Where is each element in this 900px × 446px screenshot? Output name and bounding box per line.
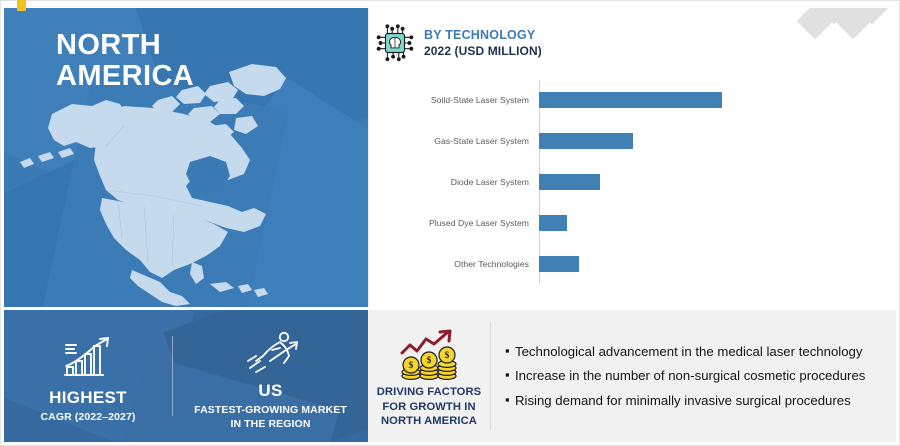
svg-text:$: $ (409, 360, 414, 370)
stats-row: HIGHEST CAGR (2022–2027) (4, 310, 368, 442)
stat-highest-cagr-sub: CAGR (2022–2027) (41, 411, 136, 425)
bar-category-label: Diode Laser System (391, 177, 535, 187)
list-item: ▪ Technological advancement in the medic… (505, 343, 886, 360)
bullet-icon: ▪ (505, 367, 514, 383)
north-america-map-icon (14, 56, 358, 306)
list-item: ▪ Rising demand for minimally invasive s… (505, 392, 886, 409)
bar-row: Diode Laser System (391, 162, 877, 202)
stat-fastest-growing-market-headline: US (258, 381, 282, 401)
list-item: ▪ Increase in the number of non-surgical… (505, 367, 886, 384)
svg-text:$: $ (427, 355, 432, 365)
bar-category-label: Gas-State Laser System (391, 136, 535, 146)
infographic-root: NORTH AMERICA (0, 0, 900, 446)
bar-value (539, 92, 722, 108)
driving-factors-list: ▪ Technological advancement in the medic… (491, 337, 896, 414)
list-item-text: Technological advancement in the medical… (515, 343, 886, 360)
bar-track (535, 162, 877, 202)
rocket-person-icon (240, 326, 302, 374)
bar-row: Gas-State Laser System (391, 121, 877, 161)
bullet-icon: ▪ (505, 392, 514, 408)
list-item-text: Rising demand for minimally invasive sur… (515, 392, 886, 409)
bar-category-label: Other Technologies (391, 259, 535, 269)
bar-value (539, 133, 633, 149)
bar-row: Soild-State Laser System (391, 80, 877, 120)
list-item-text: Increase in the number of non-surgical c… (515, 367, 886, 384)
stat-highest-cagr: HIGHEST CAGR (2022–2027) (4, 327, 172, 425)
bar-track (535, 203, 877, 243)
bar-row: Plused Dye Laser System (391, 203, 877, 243)
coins-growth-arrow-icon: $ $ $ (398, 327, 460, 381)
caption-line2: FOR GROWTH IN (377, 400, 481, 415)
region-title-line2: AMERICA (56, 61, 194, 92)
bar-category-label: Soild-State Laser System (391, 95, 535, 105)
bar-chart: Soild-State Laser System Gas-State Laser… (391, 80, 877, 292)
driving-factors-panel: $ $ $ DRIVING FACTORS FOR GROWTH IN NORT… (368, 310, 896, 442)
bar-category-label: Plused Dye Laser System (391, 218, 535, 228)
region-title-line1: NORTH (56, 30, 194, 61)
chart-title: BY TECHNOLOGY (424, 28, 542, 43)
stat-fastest-growing-market: US FASTEST-GROWING MARKET IN THE REGION (173, 320, 368, 432)
region-map-panel: NORTH AMERICA (4, 8, 368, 307)
yellow-accent-tab (17, 0, 26, 11)
svg-text:$: $ (445, 350, 450, 360)
bar-value (539, 215, 567, 231)
region-title: NORTH AMERICA (56, 30, 194, 93)
bar-row: Other Technologies (391, 244, 877, 284)
stat-sub-line1: FASTEST-GROWING MARKET (194, 404, 347, 418)
bar-track (535, 121, 877, 161)
caption-line1: DRIVING FACTORS (377, 385, 481, 400)
bullet-icon: ▪ (505, 343, 514, 359)
stat-sub-line2: IN THE REGION (194, 418, 347, 432)
region-stats-panel: HIGHEST CAGR (2022–2027) (4, 310, 368, 442)
diamond-decoration (802, 8, 890, 48)
microchip-brain-icon (376, 24, 414, 62)
bar-value (539, 174, 600, 190)
bar-track (535, 244, 877, 284)
technology-chart-panel: BY TECHNOLOGY 2022 (USD MILLION) Soild-S… (368, 8, 896, 307)
caption-line3: NORTH AMERICA (377, 414, 481, 429)
chart-header: BY TECHNOLOGY 2022 (USD MILLION) (376, 24, 542, 62)
bar-value (539, 256, 579, 272)
driving-factors-caption: DRIVING FACTORS FOR GROWTH IN NORTH AMER… (377, 385, 481, 429)
stat-fastest-growing-market-sub: FASTEST-GROWING MARKET IN THE REGION (194, 404, 347, 432)
bar-track (535, 80, 877, 120)
chart-subtitle: 2022 (USD MILLION) (424, 44, 542, 58)
growth-bar-chart-icon (59, 333, 117, 381)
stat-highest-cagr-headline: HIGHEST (49, 388, 127, 408)
driving-factors-heading: $ $ $ DRIVING FACTORS FOR GROWTH IN NORT… (368, 310, 490, 442)
